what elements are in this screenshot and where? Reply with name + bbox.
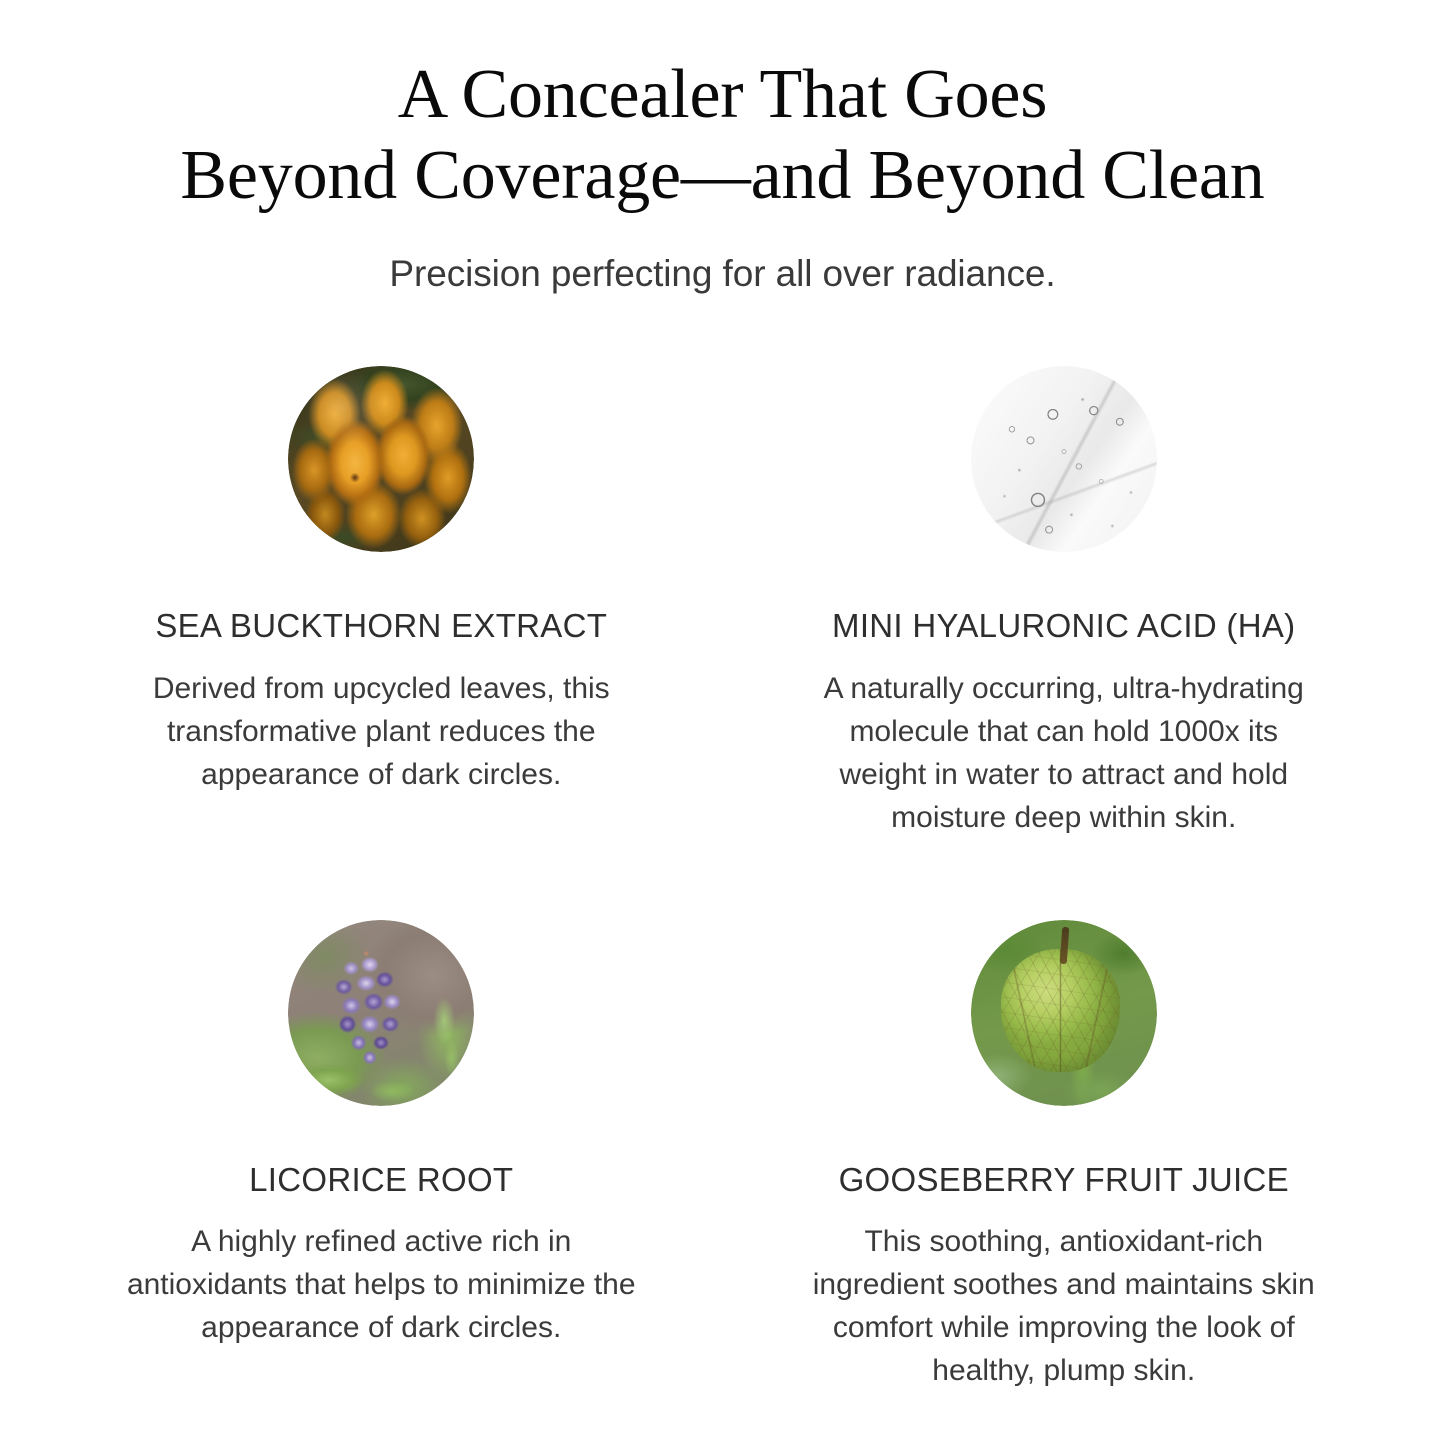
hyaluronic-acid-gel-image	[971, 366, 1157, 552]
ingredient-infographic-page: A Concealer That Goes Beyond Coverage—an…	[0, 0, 1445, 1445]
licorice-root-thumbnail	[288, 920, 474, 1106]
stem-detail	[1059, 927, 1069, 965]
ingredient-card-gooseberry: GOOSEBERRY FRUIT JUICE This soothing, an…	[723, 920, 1406, 1393]
ingredient-title: SEA BUCKTHORN EXTRACT	[155, 606, 607, 646]
gooseberry-fruit-image	[971, 920, 1157, 1106]
ingredient-card-hyaluronic-acid: MINI HYALURONIC ACID (HA) A naturally oc…	[723, 366, 1406, 839]
licorice-root-flower-image	[288, 920, 474, 1106]
sea-buckthorn-berries-image	[288, 366, 474, 552]
gooseberry-thumbnail	[971, 920, 1157, 1106]
page-subtitle: Precision perfecting for all over radian…	[0, 250, 1445, 298]
ingredient-card-licorice-root: LICORICE ROOT A highly refined active ri…	[40, 920, 723, 1393]
ingredient-description: This soothing, antioxidant-rich ingredie…	[804, 1221, 1324, 1393]
hyaluronic-acid-thumbnail	[971, 366, 1157, 552]
page-header: A Concealer That Goes Beyond Coverage—an…	[0, 0, 1445, 298]
ingredient-card-sea-buckthorn: SEA BUCKTHORN EXTRACT Derived from upcyc…	[40, 366, 723, 839]
ingredient-title: MINI HYALURONIC ACID (HA)	[832, 606, 1295, 646]
sea-buckthorn-thumbnail	[288, 366, 474, 552]
ingredient-title: GOOSEBERRY FRUIT JUICE	[839, 1160, 1289, 1200]
ingredient-description: Derived from upcycled leaves, this trans…	[121, 668, 641, 797]
page-title: A Concealer That Goes Beyond Coverage—an…	[88, 54, 1358, 216]
ingredient-description: A highly refined active rich in antioxid…	[121, 1221, 641, 1350]
ingredient-description: A naturally occurring, ultra-hydrating m…	[804, 668, 1324, 840]
ingredient-title: LICORICE ROOT	[249, 1160, 513, 1200]
ingredient-grid: SEA BUCKTHORN EXTRACT Derived from upcyc…	[0, 366, 1445, 1392]
